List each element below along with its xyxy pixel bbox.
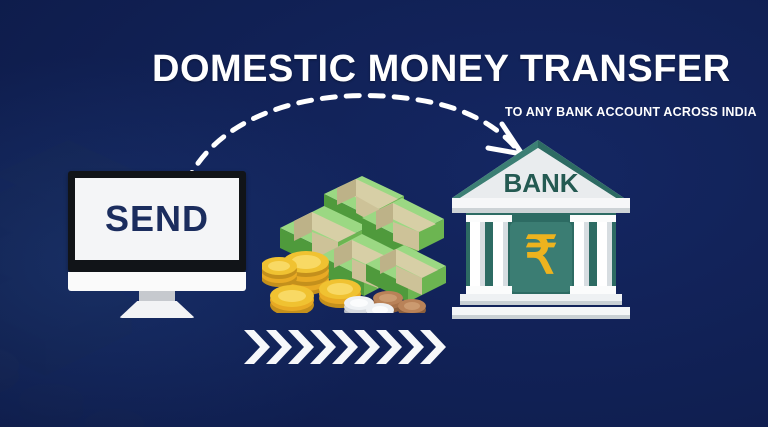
money-stack-icon bbox=[262, 168, 452, 313]
page-title: DOMESTIC MONEY TRANSFER bbox=[152, 48, 731, 91]
rupee-sign-icon: ₹ bbox=[524, 227, 557, 285]
money-transfer-poster: DOMESTIC MONEY TRANSFER TO ANY BANK ACCO… bbox=[0, 0, 768, 427]
monitor-chin bbox=[68, 272, 246, 291]
page-subtitle: TO ANY BANK ACCOUNT ACROSS INDIA bbox=[505, 105, 757, 119]
chevron-right-arrows-icon bbox=[244, 326, 470, 368]
desktop-monitor-icon: SEND bbox=[68, 171, 246, 316]
bank-label: BANK bbox=[503, 168, 578, 198]
send-label: SEND bbox=[105, 198, 209, 240]
monitor-stand-base bbox=[119, 301, 195, 318]
bank-building-icon: BANK ₹ bbox=[452, 136, 630, 322]
monitor-screen: SEND bbox=[75, 178, 239, 260]
